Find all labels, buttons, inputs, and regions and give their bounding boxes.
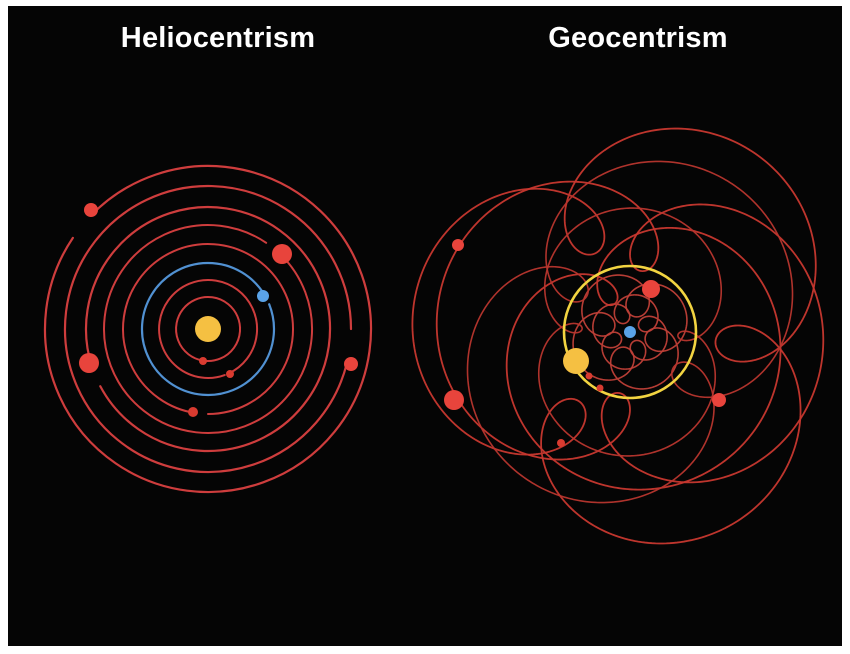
body-earth bbox=[624, 326, 636, 338]
diagram-stage: Heliocentrism Geocentrism bbox=[8, 6, 842, 646]
body-planet-mars bbox=[642, 280, 660, 298]
geocentric-diagram bbox=[8, 6, 842, 646]
body-planet-jupiter bbox=[712, 393, 726, 407]
body-planet-uranus bbox=[452, 239, 464, 251]
geocentric-epicycle-group bbox=[412, 129, 823, 544]
body-sun bbox=[563, 348, 589, 374]
body-planet-neptune bbox=[557, 439, 565, 447]
body-planet-mercury bbox=[586, 373, 593, 380]
body-planet-saturn bbox=[444, 390, 464, 410]
figure-frame: Heliocentrism Geocentrism bbox=[0, 0, 850, 654]
body-planet-venus bbox=[597, 385, 604, 392]
